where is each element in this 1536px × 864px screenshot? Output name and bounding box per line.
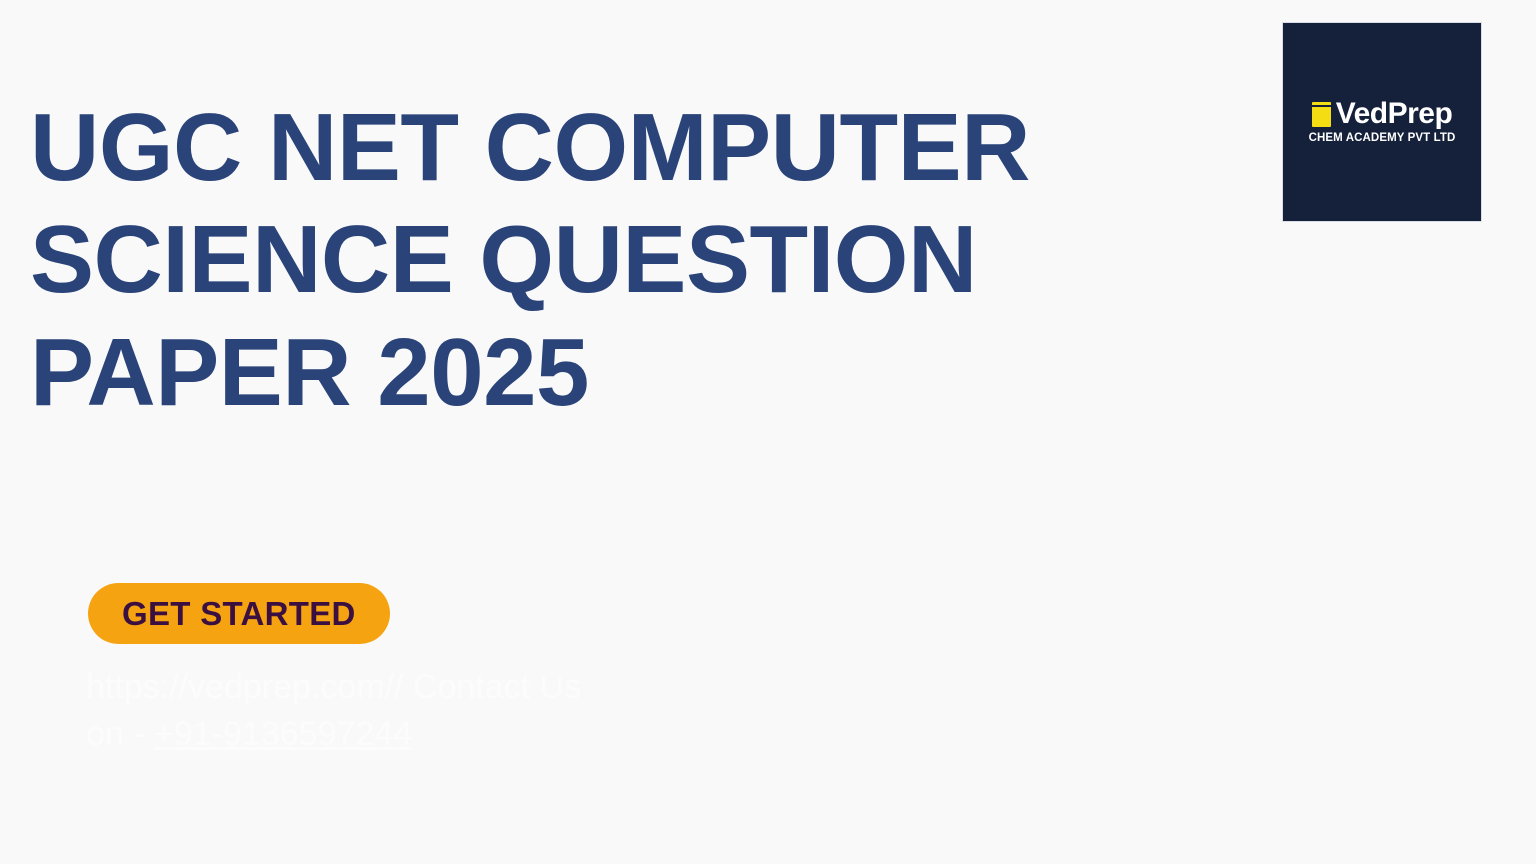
footer-phone-prefix: on -	[86, 715, 154, 753]
get-started-button[interactable]: GET STARTED	[88, 583, 390, 644]
book-icon	[1312, 102, 1331, 127]
slide-canvas: UGC NET COMPUTER SCIENCE QUESTION PAPER …	[0, 0, 1536, 864]
logo-mark: VedPrep	[1312, 99, 1453, 129]
cta-container: GET STARTED	[88, 583, 390, 644]
brand-logo-card: VedPrep CHEM ACADEMY PVT LTD	[1282, 22, 1482, 222]
logo-wordmark: VedPrep	[1336, 99, 1453, 129]
page-title: UGC NET COMPUTER SCIENCE QUESTION PAPER …	[30, 92, 1210, 429]
footer-contact-text: https://vedprep.com// Contact Us on - +9…	[86, 664, 706, 758]
footer-phone-line: on - +91-9136597244	[86, 711, 706, 758]
footer-website-line[interactable]: https://vedprep.com// Contact Us	[86, 668, 581, 706]
footer-phone-number[interactable]: +91-9136597244	[154, 715, 412, 753]
logo-tagline: CHEM ACADEMY PVT LTD	[1309, 133, 1456, 145]
